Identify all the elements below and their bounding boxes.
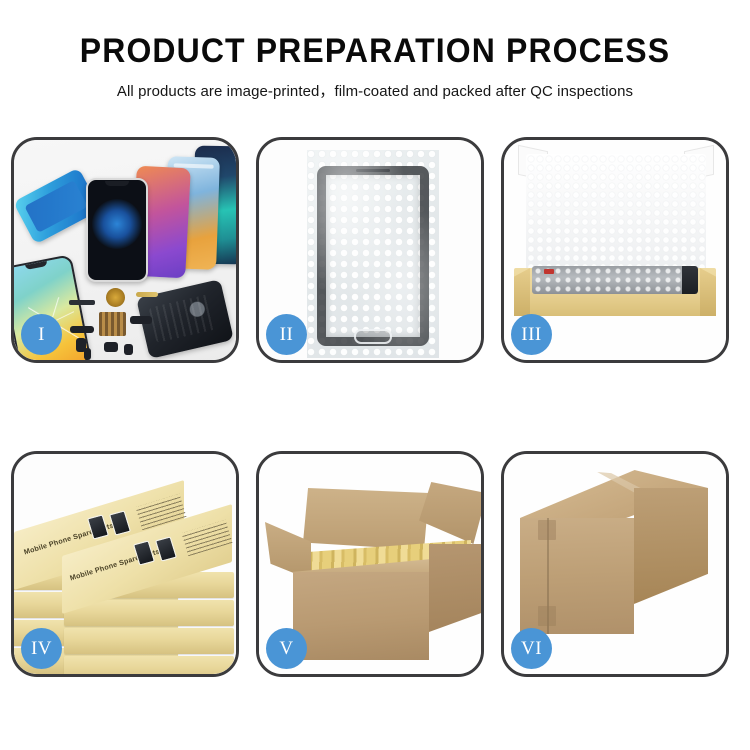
- process-step-panel-2: II: [256, 137, 484, 363]
- speaker-coil-part: [106, 288, 125, 307]
- cable-part-e: [124, 344, 133, 355]
- process-step-panel-4: Mobile Phone Spare Parts Mobile Phone Sp…: [11, 451, 239, 677]
- bubble-wrap-sheet: [307, 150, 439, 358]
- step-badge-4: IV: [21, 628, 62, 669]
- carton-front-face: [293, 572, 429, 660]
- process-step-panel-6: VI: [501, 451, 729, 677]
- wrapped-screen-in-tray: [532, 266, 698, 294]
- step-badge-5: V: [266, 628, 307, 669]
- bar-part: [69, 300, 95, 305]
- step-badge-6: VI: [511, 628, 552, 669]
- cable-part-a: [70, 326, 94, 333]
- page-title: PRODUCT PREPARATION PROCESS: [23, 34, 728, 70]
- process-step-panel-1: I: [11, 137, 239, 363]
- cable-part-d: [104, 342, 118, 352]
- foam-lining: [526, 154, 706, 278]
- black-notched-screen: [86, 178, 148, 282]
- cable-part-c: [130, 316, 152, 324]
- process-step-panel-3: III: [501, 137, 729, 363]
- step-badge-1: I: [21, 314, 62, 355]
- process-step-panel-5: V: [256, 451, 484, 677]
- kraft-box-tray: [514, 268, 716, 316]
- kraft-box-side: [64, 656, 234, 674]
- cable-part-f: [84, 348, 91, 360]
- connector-grid-part: [99, 312, 126, 336]
- bubble-wrap-gloss: [307, 150, 439, 358]
- page-subtitle: All products are image-printed，film-coat…: [6, 79, 745, 101]
- step-badge-3: III: [511, 314, 552, 355]
- step-badge-2: II: [266, 314, 307, 355]
- screen-dark-edge: [682, 266, 698, 294]
- header: PRODUCT PREPARATION PROCESS All products…: [0, 0, 750, 101]
- carton-flap-back: [303, 488, 429, 550]
- flex-cable-part-a: [136, 292, 158, 297]
- carton-tab-upper: [538, 520, 556, 540]
- carton-tab-lower: [538, 606, 556, 626]
- process-step-grid: I II: [11, 137, 739, 677]
- product-preparation-infographic: PRODUCT PREPARATION PROCESS All products…: [0, 0, 750, 750]
- kraft-box-side: [64, 628, 234, 654]
